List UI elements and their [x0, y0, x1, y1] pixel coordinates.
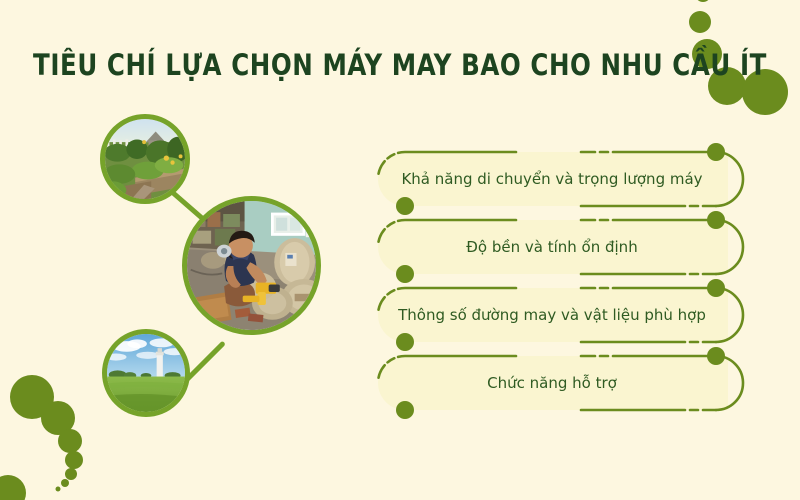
criteria-item[interactable]: Độ bền và tính ổn định [376, 218, 728, 276]
field-photo-inner [107, 334, 185, 412]
garden-photo [100, 114, 190, 204]
sewing-photo-inner [187, 201, 316, 330]
criteria-item-label: Độ bền và tính ổn định [376, 218, 728, 276]
field-photo [102, 329, 190, 417]
criteria-item[interactable]: Khả năng di chuyển và trọng lượng máy [376, 150, 728, 208]
criteria-item-label: Chức năng hỗ trợ [376, 354, 728, 412]
criteria-list: Khả năng di chuyển và trọng lượng máy Độ… [376, 150, 728, 422]
infographic-canvas: TIÊU CHÍ LỰA CHỌN MÁY MAY BAO CHO NHU CẦ… [0, 0, 800, 500]
criteria-item-label: Khả năng di chuyển và trọng lượng máy [376, 150, 728, 208]
garden-photo-inner [105, 119, 185, 199]
criteria-item[interactable]: Thông số đường may và vật liệu phù hợp [376, 286, 728, 344]
criteria-item[interactable]: Chức năng hỗ trợ [376, 354, 728, 412]
decor-dot [695, 0, 711, 2]
photo-cluster [0, 0, 360, 500]
criteria-item-label: Thông số đường may và vật liệu phù hợp [376, 286, 728, 344]
sewing-photo [182, 196, 321, 335]
decor-dot [689, 11, 711, 33]
